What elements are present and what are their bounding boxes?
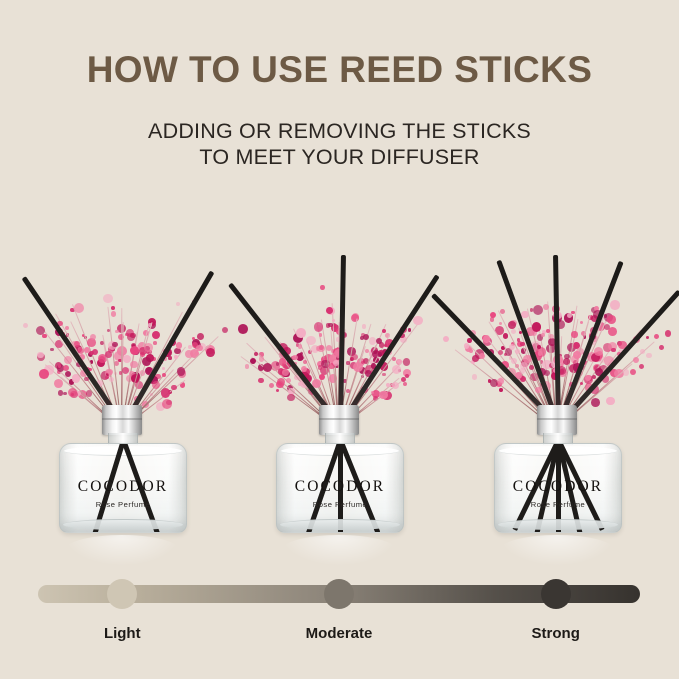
bottle-reflection: [500, 535, 614, 565]
flower-blossom: [533, 305, 543, 315]
flower-blossom: [500, 309, 505, 314]
slider-label-strong: Strong: [481, 625, 631, 642]
flower-blossom: [39, 369, 49, 379]
flower-blossom: [317, 345, 325, 353]
diffuser-light: COCODORRose Perfume: [9, 205, 235, 565]
bottle-variant-label: Rose Perfume: [60, 500, 186, 509]
flower-blossom: [499, 322, 502, 325]
flower-blossom: [472, 374, 478, 380]
flower-blossom: [392, 357, 396, 361]
slider-knob-moderate[interactable]: [324, 579, 354, 609]
diffuser-moderate: COCODORRose Perfume: [226, 205, 452, 565]
flower-blossom: [376, 338, 382, 344]
flower-blossom: [319, 333, 323, 337]
flower-blossom: [263, 363, 272, 372]
flower-blossom: [177, 367, 185, 375]
infographic-page: HOW TO USE REED STICKS ADDING OR REMOVIN…: [0, 0, 679, 679]
slider-knob-strong[interactable]: [541, 579, 571, 609]
flower-blossom: [382, 329, 386, 333]
flower-blossom: [37, 352, 43, 358]
flower-blossom: [287, 394, 294, 401]
flower-blossom: [443, 336, 449, 342]
flower-blossom: [144, 343, 153, 352]
flower-blossom: [351, 354, 357, 360]
flower-blossom: [176, 342, 182, 348]
flower-blossom: [403, 382, 407, 386]
bottle-glass: COCODORRose Perfume: [494, 443, 622, 533]
flower-blossom: [292, 355, 298, 361]
bottle-reflection: [65, 535, 179, 565]
flower-blossom: [152, 381, 161, 390]
flower-blossom: [413, 316, 423, 326]
flower-blossom: [541, 333, 545, 337]
bottle-glass: COCODORRose Perfume: [59, 443, 187, 533]
bottle-glass: COCODORRose Perfume: [276, 443, 404, 533]
flower-blossom: [111, 311, 116, 316]
flower-blossom: [532, 322, 541, 331]
flower-blossom: [464, 343, 470, 349]
flower-blossom: [382, 373, 386, 377]
flower-blossom: [607, 315, 616, 324]
bottle-brand-label: COCODOR: [495, 478, 621, 496]
flower-blossom: [64, 356, 72, 364]
flower-blossom: [585, 375, 591, 381]
bottle-brand-label: COCODOR: [60, 478, 186, 496]
flower-blossom: [654, 334, 659, 339]
flower-blossom: [611, 348, 616, 353]
flower-blossom: [646, 336, 649, 339]
flower-blossom: [346, 361, 349, 364]
flower-blossom: [564, 354, 570, 360]
slider-knob-light[interactable]: [107, 579, 137, 609]
flower-blossom: [320, 285, 325, 290]
subtitle-line-1: ADDING OR REMOVING THE STICKS: [0, 118, 679, 144]
flower-blossom: [386, 383, 390, 387]
flower-blossom: [238, 324, 248, 334]
flower-blossom: [188, 345, 192, 349]
flower-blossom: [665, 330, 672, 337]
flower-blossom: [258, 378, 263, 383]
flower-blossom: [508, 321, 516, 329]
flower-blossom: [176, 302, 180, 306]
flower-blossom: [511, 329, 516, 334]
diffuser-strong: COCODORRose Perfume: [444, 205, 670, 565]
diffuser-bottle: COCODORRose Perfume: [276, 405, 402, 535]
flower-blossom: [142, 357, 151, 366]
glass-base: [280, 519, 400, 530]
flower-blossom: [571, 331, 577, 337]
flower-blossom: [107, 369, 113, 375]
flower-blossom: [65, 326, 69, 330]
flower-blossom: [511, 358, 517, 364]
flower-blossom: [520, 342, 525, 347]
flower-blossom: [351, 314, 359, 322]
flower-blossom: [405, 374, 409, 378]
flower-blossom: [580, 382, 583, 385]
bottle-variant-label: Rose Perfume: [495, 500, 621, 509]
flower-blossom: [130, 361, 137, 368]
flower-blossom: [497, 378, 504, 385]
flower-blossom: [152, 331, 160, 339]
flower-blossom: [646, 353, 651, 358]
flower-blossom: [112, 342, 118, 348]
flower-blossom: [114, 361, 119, 366]
flower-blossom: [306, 336, 316, 346]
flower-blossom: [259, 356, 265, 362]
flower-blossom: [54, 379, 63, 388]
flower-blossom: [543, 304, 549, 310]
flower-blossom: [197, 333, 204, 340]
flower-blossom: [68, 388, 77, 397]
flower-blossom: [296, 328, 306, 338]
flower-blossom: [469, 349, 473, 353]
flower-blossom: [623, 369, 630, 376]
bottle-variant-label: Rose Perfume: [277, 500, 403, 509]
flower-blossom: [254, 352, 258, 356]
flower-blossom: [50, 348, 54, 352]
flower-blossom: [499, 388, 503, 392]
flower-blossom: [515, 349, 520, 354]
flower-blossom: [174, 355, 177, 358]
flower-blossom: [196, 345, 202, 351]
flower-blossom: [162, 367, 165, 370]
flower-blossom: [245, 364, 249, 368]
flower-blossom: [630, 369, 636, 375]
flower-blossom: [610, 300, 619, 309]
flower-blossom: [23, 323, 28, 328]
flower-blossom: [161, 388, 170, 397]
dried-flowers: [9, 229, 235, 429]
flower-blossom: [109, 377, 114, 382]
flower-blossom: [362, 324, 367, 329]
flower-blossom: [92, 349, 99, 356]
flower-blossom: [374, 351, 377, 354]
flower-blossom: [333, 360, 339, 366]
flower-blossom: [63, 392, 67, 396]
flower-blossom: [392, 382, 400, 390]
glass-base: [498, 519, 618, 530]
flower-blossom: [490, 317, 494, 321]
flower-blossom: [498, 350, 503, 355]
bottle-collar: [537, 405, 577, 435]
flower-blossom: [58, 364, 61, 367]
flower-blossom: [659, 345, 664, 350]
diffuser-row: COCODORRose PerfumeCOCODORRose PerfumeCO…: [0, 205, 679, 565]
subtitle-line-2: TO MEET YOUR DIFFUSER: [0, 144, 679, 170]
flower-blossom: [379, 391, 387, 399]
flower-blossom: [103, 294, 113, 304]
reed-arrangement: [444, 205, 670, 425]
flower-blossom: [115, 330, 118, 333]
flower-blossom: [640, 349, 645, 354]
flower-blossom: [332, 319, 335, 322]
diffuser-bottle: COCODORRose Perfume: [494, 405, 620, 535]
page-title: HOW TO USE REED STICKS: [0, 49, 679, 91]
flower-blossom: [520, 362, 528, 370]
reed-arrangement: [9, 205, 235, 425]
flower-blossom: [392, 365, 401, 374]
flower-blossom: [206, 348, 215, 357]
flower-blossom: [503, 333, 509, 339]
reed-arrangement: [226, 205, 452, 425]
page-subtitle: ADDING OR REMOVING THE STICKS TO MEET YO…: [0, 118, 679, 170]
glass-base: [63, 519, 183, 530]
flower-blossom: [580, 321, 583, 324]
flower-blossom: [633, 357, 639, 363]
slider-label-light: Light: [47, 625, 197, 642]
flower-blossom: [250, 358, 256, 364]
flower-blossom: [326, 307, 333, 314]
slider-label-moderate: Moderate: [264, 625, 414, 642]
bottle-reflection: [282, 535, 396, 565]
flower-blossom: [185, 350, 193, 358]
flower-blossom: [105, 376, 109, 380]
flower-blossom: [639, 364, 644, 369]
intensity-slider[interactable]: LightModerateStrong: [38, 585, 640, 603]
flower-blossom: [319, 374, 325, 380]
flower-blossom: [153, 341, 157, 345]
bottle-brand-label: COCODOR: [277, 478, 403, 496]
flower-blossom: [483, 335, 491, 343]
flower-blossom: [269, 383, 274, 388]
flower-blossom: [171, 385, 177, 391]
bottle-collar: [319, 405, 359, 435]
flower-blossom: [303, 360, 307, 364]
flower-blossom: [111, 306, 115, 310]
bottle-collar: [102, 405, 142, 435]
flower-blossom: [403, 358, 410, 365]
flower-blossom: [58, 390, 64, 396]
flower-blossom: [74, 303, 84, 313]
diffuser-bottle: COCODORRose Perfume: [59, 405, 185, 535]
flower-blossom: [328, 323, 333, 328]
flower-blossom: [42, 334, 47, 339]
flower-blossom: [608, 327, 617, 336]
flower-blossom: [276, 389, 279, 392]
